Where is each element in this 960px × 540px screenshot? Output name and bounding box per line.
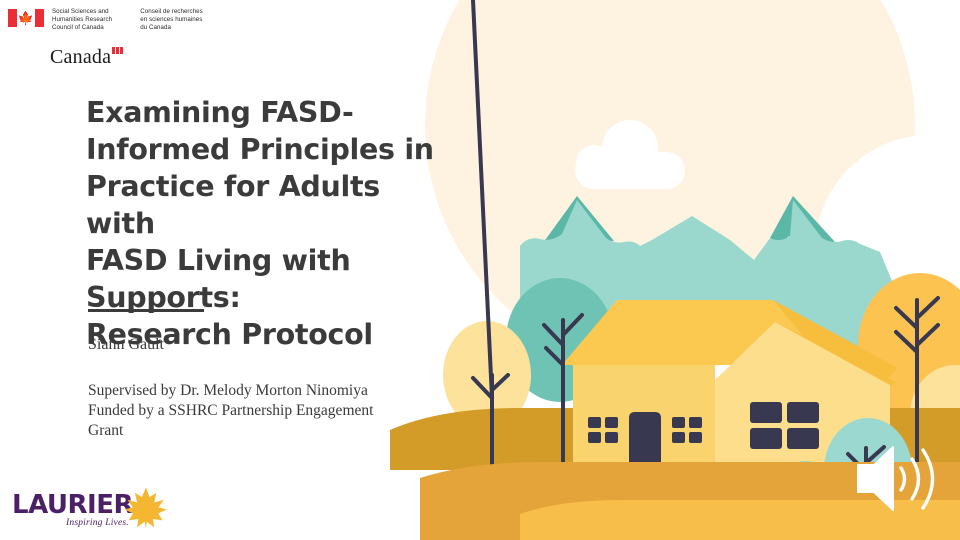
- title-block: Examining FASD- Informed Principles in P…: [86, 94, 446, 353]
- canada-wordmark-text: Canada: [50, 46, 111, 68]
- author-name: Siann Gault: [88, 334, 448, 356]
- maple-leaf-icon: [124, 486, 168, 530]
- presentation-slide: 🍁 Social Sciences and Humanities Researc…: [0, 0, 960, 540]
- sshrc-english-text: Social Sciences and Humanities Research …: [52, 8, 132, 33]
- sshrc-french-text: Conseil de recherches en sciences humain…: [140, 8, 238, 33]
- title-divider: [88, 309, 204, 312]
- canada-wordmark-flag-icon: [112, 47, 123, 55]
- laurier-wordmark: LAURIER: [12, 492, 133, 518]
- laurier-tagline: Inspiring Lives.: [66, 518, 129, 528]
- canada-flag-icon: 🍁: [8, 9, 44, 27]
- laurier-logo: LAURIER Inspiring Lives.: [12, 490, 162, 535]
- page-title: Examining FASD- Informed Principles in P…: [86, 94, 446, 353]
- sshrc-logo: 🍁 Social Sciences and Humanities Researc…: [8, 8, 238, 70]
- supervisor-and-funding-credits: Supervised by Dr. Melody Morton Ninomiya…: [88, 381, 438, 441]
- canada-wordmark: Canada: [50, 46, 123, 68]
